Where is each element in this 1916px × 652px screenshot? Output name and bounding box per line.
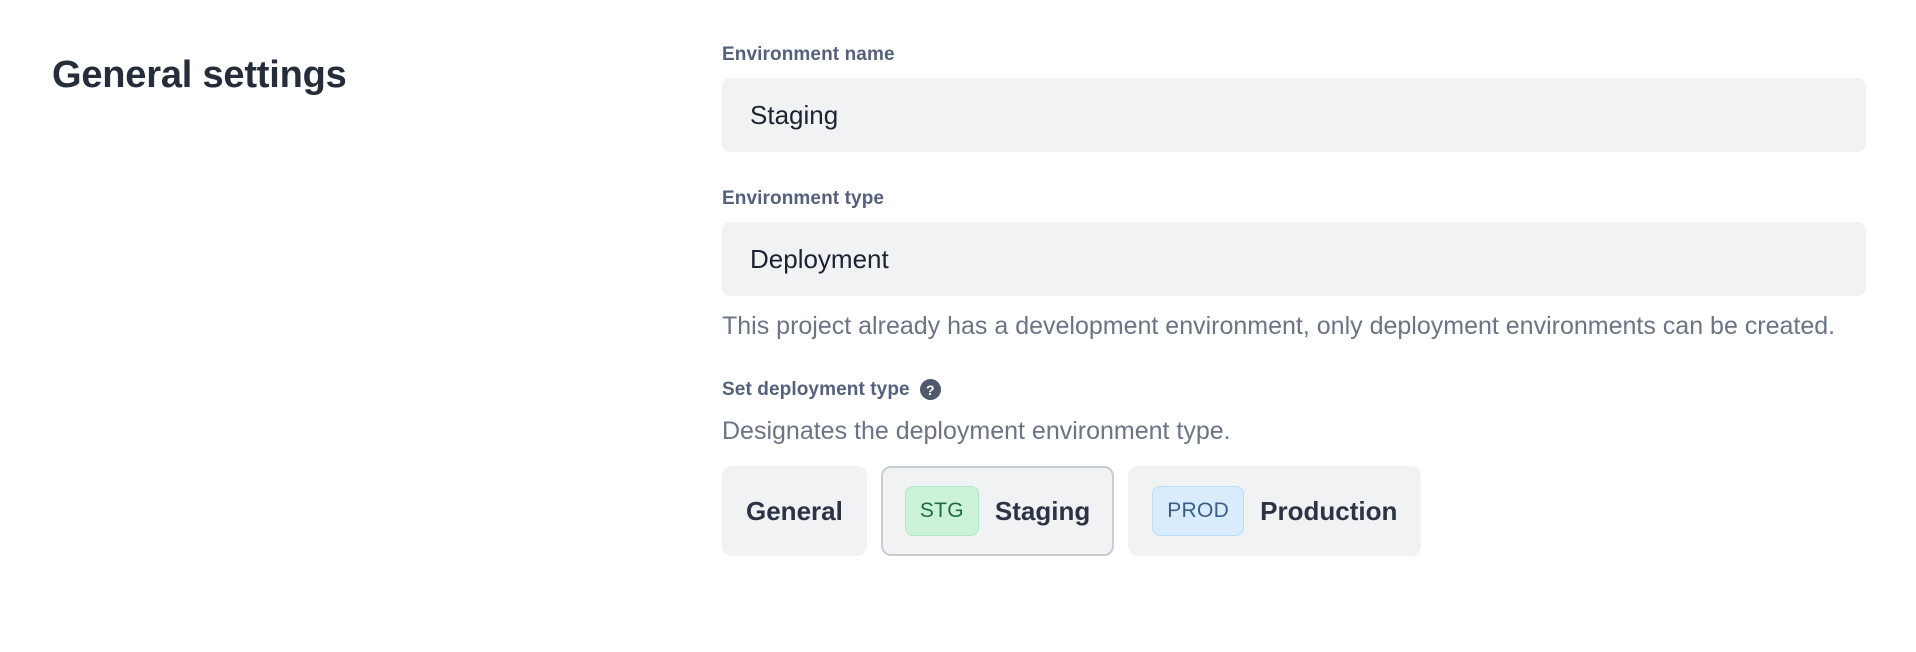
deployment-type-option-group: General STG Staging PROD Production <box>722 466 1866 556</box>
general-settings-page: General settings Environment name Enviro… <box>0 0 1916 652</box>
environment-type-help-text: This project already has a development e… <box>722 310 1842 343</box>
deployment-option-production-label: Production <box>1260 498 1397 524</box>
deployment-option-general-label: General <box>746 498 843 524</box>
settings-form: Environment name Environment type This p… <box>722 44 1866 556</box>
deployment-type-label-row: Set deployment type ? <box>722 379 1866 402</box>
deployment-option-staging-label: Staging <box>995 498 1090 524</box>
deployment-type-description: Designates the deployment environment ty… <box>722 415 1866 448</box>
deployment-type-label: Set deployment type <box>722 379 910 402</box>
deployment-option-general[interactable]: General <box>722 466 867 556</box>
deployment-option-staging[interactable]: STG Staging <box>881 466 1114 556</box>
environment-name-input[interactable] <box>722 78 1866 152</box>
page-title: General settings <box>52 53 347 99</box>
deployment-type-section: Set deployment type ? Designates the dep… <box>722 379 1866 556</box>
staging-tag-badge: STG <box>905 486 979 536</box>
question-mark-icon[interactable]: ? <box>920 379 941 400</box>
environment-type-label: Environment type <box>722 188 1866 211</box>
environment-name-field-group: Environment name <box>722 44 1866 152</box>
field-spacer <box>722 152 1866 188</box>
environment-type-input[interactable] <box>722 222 1866 296</box>
deployment-option-production[interactable]: PROD Production <box>1128 466 1421 556</box>
environment-name-label: Environment name <box>722 44 1866 67</box>
production-tag-badge: PROD <box>1152 486 1244 536</box>
environment-type-field-group: Environment type This project already ha… <box>722 188 1866 343</box>
